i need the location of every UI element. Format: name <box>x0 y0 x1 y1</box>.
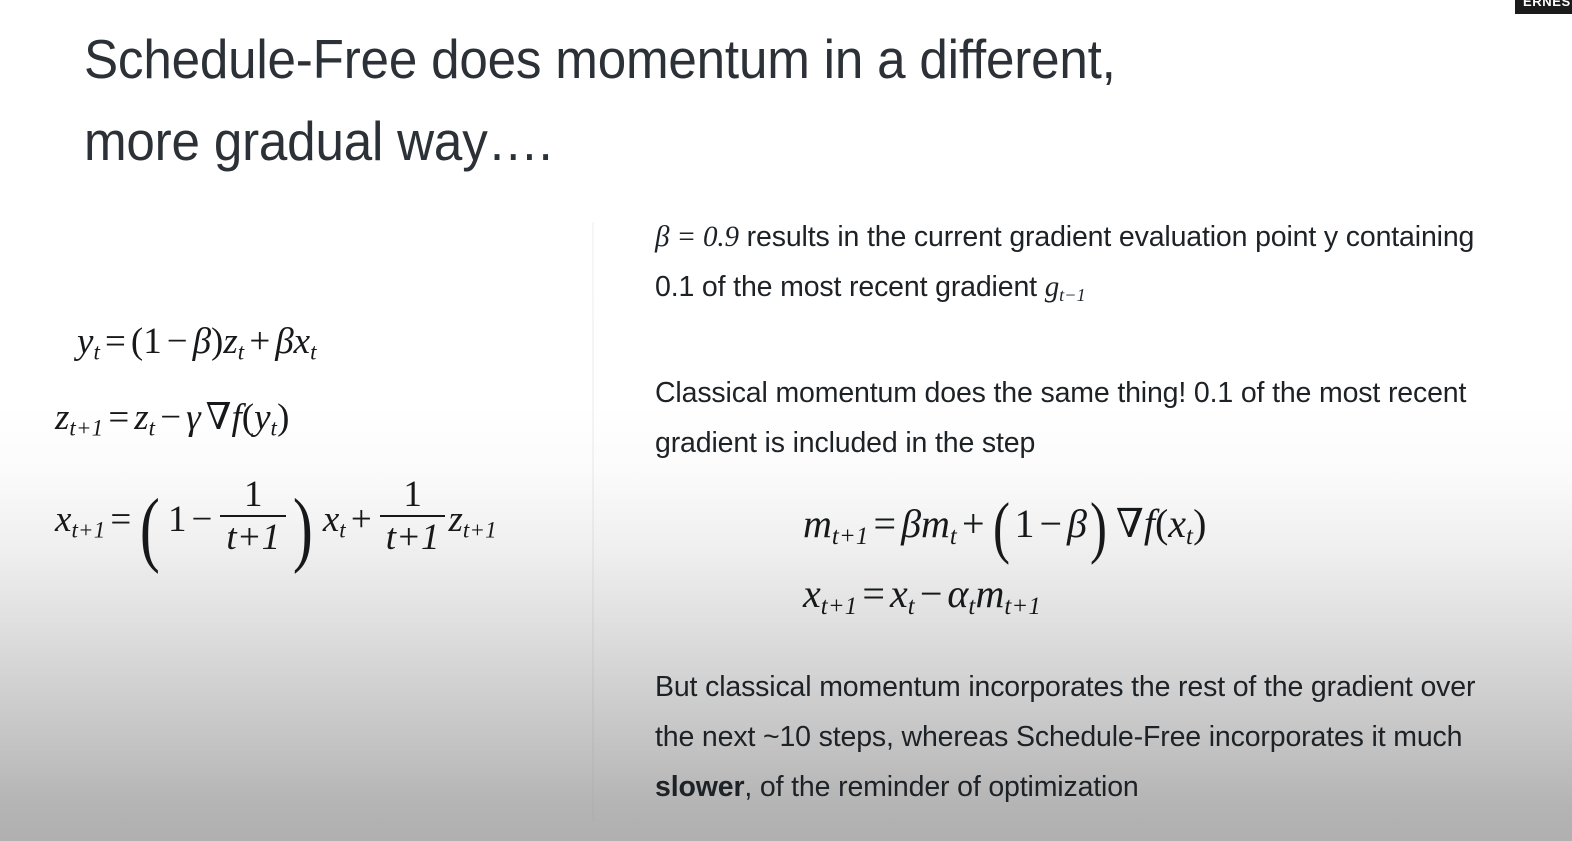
sym-minus: − <box>915 571 948 616</box>
slide-root: Schedule-Free does momentum in a differe… <box>0 0 1572 841</box>
sym-f: f <box>232 397 242 438</box>
sym-big-lparen: ( <box>140 507 160 553</box>
sym-equals: = <box>103 397 134 438</box>
watermark-badge: ERNES <box>1515 0 1572 14</box>
sym-big-rparen: ) <box>293 507 313 553</box>
sym-equals: = <box>105 499 136 540</box>
sym-z: z <box>55 397 69 438</box>
sym-x: x <box>803 571 821 616</box>
beta-equals-value: β = 0.9 <box>655 221 739 253</box>
inline-math-beta-value: β = 0.9 <box>655 221 739 253</box>
sub-t-plus-1: t+1 <box>71 518 105 543</box>
equation-schedule-free-x: xt+1=(1−1t+1)xt+1t+1zt+1 <box>55 475 595 558</box>
sym-one: 1 <box>143 321 162 362</box>
paragraph-beta-explanation: β = 0.9 results in the current gradient … <box>655 212 1493 312</box>
sym-minus: − <box>1034 501 1067 546</box>
sym-plus: + <box>346 499 377 540</box>
sym-m: m <box>975 571 1004 616</box>
sub-t-plus-1: t+1 <box>832 523 869 550</box>
sym-minus: − <box>155 397 186 438</box>
right-equation-block: mt+1=βmt+(1−β)∇f(xt) xt+1=xt−αtmt+1 <box>655 500 1493 617</box>
left-equation-block: yt=(1−β)zt+βxt zt+1=zt−γ∇f(yt) xt+1=(1−1… <box>55 320 595 558</box>
sym-m: m <box>921 501 950 546</box>
sym-m: m <box>803 501 832 546</box>
sym-x: x <box>55 499 71 540</box>
page-title: Schedule-Free does momentum in a differe… <box>84 18 1423 182</box>
sym-equals: = <box>857 571 890 616</box>
sym-alpha: α <box>947 571 968 616</box>
sym-beta: β <box>901 501 921 546</box>
sym-minus: − <box>186 499 217 540</box>
sym-rparen: ) <box>211 321 223 362</box>
sub-t-minus-1: t−1 <box>1059 285 1086 305</box>
sym-lparen: ( <box>242 397 254 438</box>
fraction-numerator: 1 <box>220 475 286 515</box>
sym-g: g <box>1045 271 1059 303</box>
fraction-one-over-t-plus-1: 1t+1 <box>380 475 446 558</box>
sym-z: z <box>448 499 462 540</box>
sym-y: y <box>254 397 270 438</box>
sym-rparen: ) <box>1193 501 1206 546</box>
fraction-denominator: t+1 <box>380 515 446 558</box>
sym-x: x <box>1168 501 1186 546</box>
sub-t-plus-1: t+1 <box>69 415 103 440</box>
nabla-icon: ∇ <box>201 397 232 438</box>
inline-math-g: gt−1 <box>1045 271 1086 303</box>
equation-classical-momentum-x: xt+1=xt−αtmt+1 <box>803 570 1493 617</box>
sub-t-plus-1: t+1 <box>463 518 497 543</box>
right-content-column: β = 0.9 results in the current gradient … <box>655 212 1493 812</box>
paragraph-3-part-1: But classical momentum incorporates the … <box>655 671 1475 753</box>
sym-lparen: ( <box>1155 501 1168 546</box>
sym-beta: β <box>193 321 211 362</box>
sub-t-plus-1: t+1 <box>821 593 858 620</box>
sym-gamma: γ <box>186 397 201 438</box>
sym-z: z <box>134 397 148 438</box>
sym-one: 1 <box>164 499 187 540</box>
sym-z: z <box>223 321 237 362</box>
equation-schedule-free-z: zt+1=zt−γ∇f(yt) <box>55 395 595 439</box>
paragraph-classical-momentum-same: Classical momentum does the same thing! … <box>655 368 1493 468</box>
paragraph-3-part-2: , of the reminder of optimization <box>744 771 1138 803</box>
sub-t: t <box>950 523 957 550</box>
equation-classical-momentum-m: mt+1=βmt+(1−β)∇f(xt) <box>803 500 1493 548</box>
paragraph-3-emphasis: slower <box>655 771 744 803</box>
sym-x: x <box>890 571 908 616</box>
sub-t: t <box>908 593 915 620</box>
sub-t-plus-1: t+1 <box>1004 593 1041 620</box>
sym-rparen: ) <box>277 397 289 438</box>
sym-med-rparen: ) <box>1090 507 1107 548</box>
fraction-one-over-t-plus-1: 1t+1 <box>220 475 286 558</box>
sub-t: t <box>310 339 317 364</box>
sym-equals: = <box>100 321 131 362</box>
sym-x: x <box>294 321 310 362</box>
sym-beta: β <box>1067 501 1087 546</box>
equation-schedule-free-y: yt=(1−β)zt+βxt <box>77 320 595 363</box>
fraction-denominator: t+1 <box>220 515 286 558</box>
sym-y: y <box>77 321 93 362</box>
sym-plus: + <box>244 321 275 362</box>
nabla-icon: ∇ <box>1110 501 1144 546</box>
sym-minus: − <box>162 321 193 362</box>
sym-equals: = <box>869 501 902 546</box>
fraction-numerator: 1 <box>380 475 446 515</box>
sub-t: t <box>339 518 346 543</box>
sym-x: x <box>317 499 339 540</box>
paragraph-incorporation-rate: But classical momentum incorporates the … <box>655 662 1493 812</box>
sym-f: f <box>1144 501 1155 546</box>
sym-one: 1 <box>1012 501 1034 546</box>
sym-beta: β <box>275 321 293 362</box>
sym-plus: + <box>957 501 990 546</box>
sym-lparen: ( <box>131 321 143 362</box>
sym-med-lparen: ( <box>993 507 1010 548</box>
